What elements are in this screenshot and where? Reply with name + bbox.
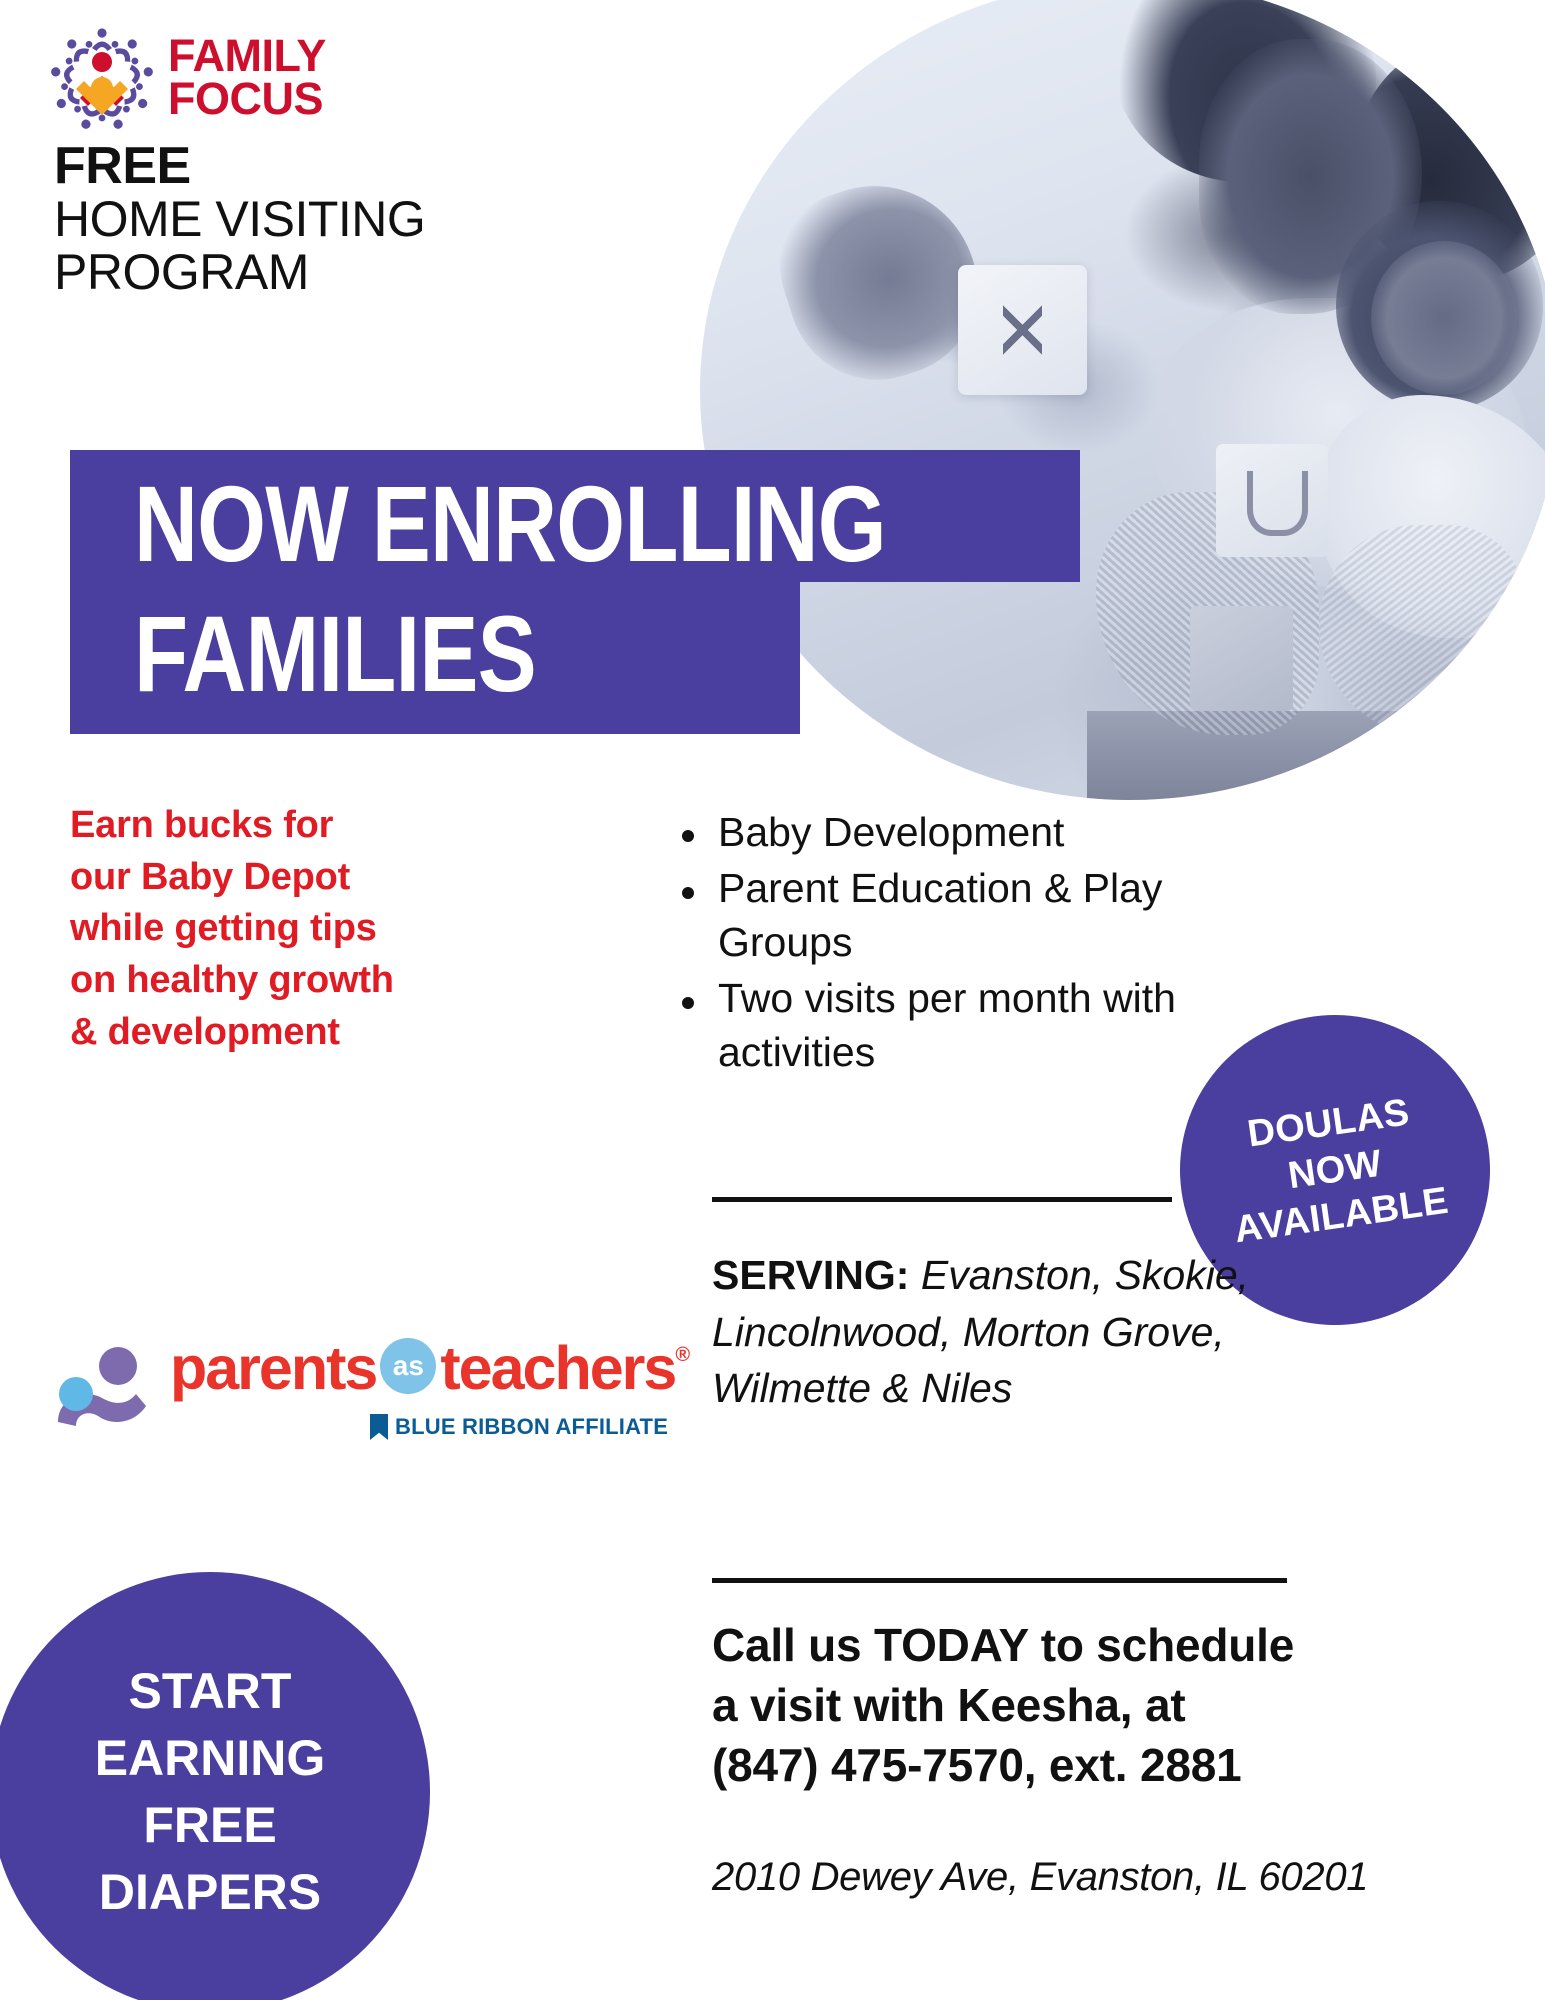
list-item: Baby Development	[670, 805, 1210, 859]
list-item: Two visits per month with activities	[670, 971, 1210, 1079]
start-badge-line-2: EARNING	[95, 1725, 326, 1792]
title-line-2: HOME VISITING	[54, 193, 574, 246]
start-earning-badge: START EARNING FREE DIAPERS	[0, 1572, 430, 2000]
flyer-page: FAMILY FOCUS FREE HOME VISITING PROGRAM …	[0, 0, 1545, 2000]
photo-table	[1087, 711, 1545, 800]
pat-affiliate-label: BLUE RIBBON AFFILIATE	[395, 1414, 668, 1439]
contact-line-1: Call us TODAY to schedule	[712, 1616, 1332, 1676]
parents-as-teachers-logo: parentsasteachers® BLUE RIBBON AFFILIATE	[50, 1330, 630, 1445]
wordmark-line-1: FAMILY	[168, 34, 326, 77]
contact-phone[interactable]: (847) 475-7570, ext. 2881	[712, 1736, 1332, 1796]
start-badge-line-1: START	[129, 1658, 292, 1725]
ribbon-flag-icon	[370, 1414, 388, 1440]
start-badge-line-3: FREE	[143, 1792, 276, 1859]
banner-headline-2: FAMILIES	[134, 600, 1401, 708]
start-badge-line-4: DIAPERS	[99, 1859, 321, 1926]
office-address: 2010 Dewey Ave, Evanston, IL 60201	[712, 1855, 1332, 1900]
pat-word-1: parents	[170, 1334, 376, 1402]
parent-and-child-icon	[50, 1344, 160, 1430]
list-item: Parent Education & Play Groups	[670, 861, 1210, 969]
wordmark-line-2: FOCUS	[168, 77, 326, 120]
banner-headline-1: NOW ENROLLING	[134, 470, 1401, 578]
pat-wordmark: parentsasteachers®	[170, 1338, 688, 1399]
contact-line-2: a visit with Keesha, at	[712, 1676, 1332, 1736]
contact-block: Call us TODAY to schedule a visit with K…	[712, 1616, 1332, 1795]
family-focus-emblem-icon	[48, 26, 156, 134]
pat-word-2: teachers	[440, 1334, 675, 1402]
divider-top	[712, 1197, 1172, 1202]
serving-label: SERVING:	[712, 1252, 909, 1298]
pat-as-badge: as	[380, 1338, 436, 1394]
services-list: Baby Development Parent Education & Play…	[670, 805, 1210, 1082]
divider-bottom	[712, 1578, 1287, 1583]
photo-child-face	[1371, 241, 1517, 395]
title-free: FREE	[54, 140, 574, 193]
family-focus-wordmark: FAMILY FOCUS	[168, 34, 326, 120]
serving-areas: SERVING: Evanston, Skokie, Lincolnwood, …	[712, 1247, 1312, 1417]
family-focus-logo: FAMILY FOCUS	[48, 26, 378, 136]
title-line-3: PROGRAM	[54, 246, 574, 299]
pat-registered-mark: ®	[675, 1344, 688, 1366]
program-title: FREE HOME VISITING PROGRAM	[54, 140, 574, 298]
pat-affiliate-line: BLUE RIBBON AFFILIATE	[370, 1414, 668, 1440]
promo-text: Earn bucks for our Baby Depot while gett…	[70, 800, 400, 1058]
photo-block-x	[958, 265, 1087, 395]
